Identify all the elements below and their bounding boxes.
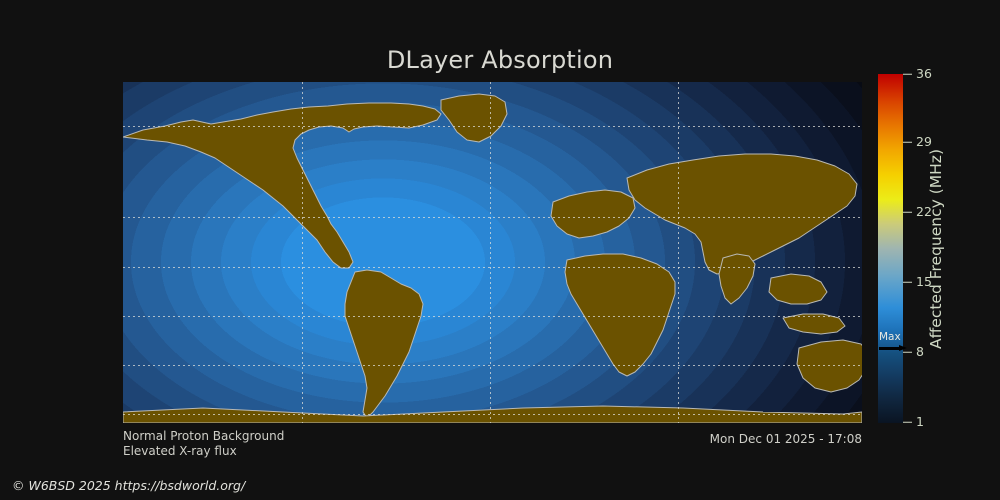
colorbar-axis-label: Affected Frequency (MHz) (924, 74, 948, 423)
status-notes: Normal Proton Background Elevated X-ray … (123, 429, 284, 459)
tick-mark-icon (903, 212, 912, 213)
arrow-right-icon (879, 345, 907, 352)
tick-mark-icon (903, 142, 912, 143)
status-note-proton: Normal Proton Background (123, 429, 284, 444)
status-note-xray: Elevated X-ray flux (123, 444, 284, 459)
tick-mark-icon (903, 422, 912, 423)
app-root: DLayer Absorption (0, 0, 1000, 500)
footer-credit: © W6BSD 2025 https://bsdworld.org/ (12, 478, 245, 493)
colorbar-gradient (878, 74, 903, 423)
max-marker-label: Max (879, 332, 901, 343)
max-marker: Max (879, 333, 909, 355)
timestamp: Mon Dec 01 2025 - 17:08 (710, 432, 862, 446)
tick-mark-icon (903, 74, 912, 75)
colorbar-tick: 1 (903, 416, 924, 429)
map-geometry (123, 82, 862, 423)
world-map[interactable] (123, 82, 862, 423)
page-title: DLayer Absorption (0, 46, 1000, 74)
tick-mark-icon (903, 282, 912, 283)
coastline-layer (123, 82, 862, 423)
